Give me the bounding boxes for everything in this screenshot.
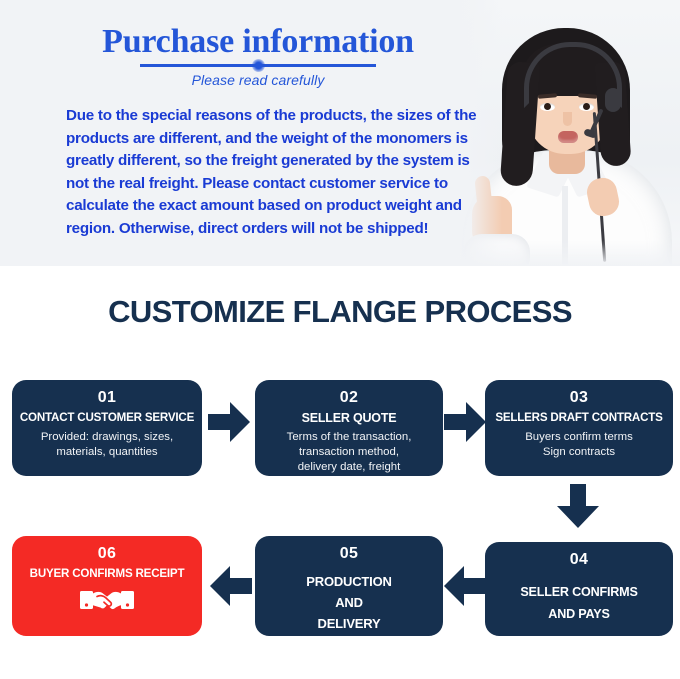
arrow-right-icon — [208, 402, 250, 442]
process-step-04: 04 SELLER CONFIRMS AND PAYS — [485, 542, 673, 636]
banner-body-text: Due to the special reasons of the produc… — [66, 105, 486, 240]
process-step-05: 05 PRODUCTION AND DELIVERY — [255, 536, 443, 636]
arrow-left-icon — [210, 566, 252, 606]
step-number: 03 — [570, 388, 589, 407]
agent-mouth — [558, 131, 578, 143]
process-step-03: 03 SELLERS DRAFT CONTRACTS Buyers confir… — [485, 380, 673, 476]
title-underline — [140, 64, 376, 67]
page-title: Purchase information — [58, 22, 458, 62]
arrow-left-icon — [444, 566, 486, 606]
process-step-06: 06 BUYER CONFIRMS RECEIPT — [12, 536, 202, 636]
step-number: 04 — [570, 550, 589, 569]
step-number: 06 — [98, 544, 117, 563]
photo-bottom-fade — [448, 240, 680, 266]
step-heading: BUYER CONFIRMS RECEIPT — [30, 566, 185, 582]
step-detail: Buyers confirm terms Sign contracts — [525, 430, 633, 460]
page-subtitle: Please read carefully — [58, 72, 458, 88]
step-heading: PRODUCTION AND DELIVERY — [306, 571, 391, 634]
banner-title-block: Purchase information Please read careful… — [58, 22, 458, 88]
step-detail: Provided: drawings, sizes, materials, qu… — [41, 430, 173, 460]
purchase-information-banner: Purchase information Please read careful… — [0, 0, 680, 266]
arrow-right-icon — [444, 402, 486, 442]
step-heading: SELLERS DRAFT CONTRACTS — [495, 410, 662, 426]
step-number: 01 — [98, 388, 117, 407]
step-heading: SELLER QUOTE — [302, 410, 397, 426]
process-title: CUSTOMIZE FLANGE PROCESS — [0, 294, 680, 330]
step-number: 02 — [340, 388, 359, 407]
customize-flange-process-section: CUSTOMIZE FLANGE PROCESS 01 CONTACT CUST… — [0, 266, 680, 679]
step-heading: SELLER CONFIRMS AND PAYS — [520, 581, 637, 625]
step-number: 05 — [340, 544, 359, 563]
arrow-down-icon — [557, 484, 599, 528]
process-step-02: 02 SELLER QUOTE Terms of the transaction… — [255, 380, 443, 476]
step-heading: CONTACT CUSTOMER SERVICE — [20, 410, 194, 426]
handshake-icon — [80, 587, 134, 615]
headset-earcup-icon — [605, 88, 621, 112]
agent-nose — [563, 112, 572, 126]
process-step-01: 01 CONTACT CUSTOMER SERVICE Provided: dr… — [12, 380, 202, 476]
step-detail: Terms of the transaction, transaction me… — [287, 430, 412, 475]
purchase-information-page: Purchase information Please read careful… — [0, 0, 680, 679]
